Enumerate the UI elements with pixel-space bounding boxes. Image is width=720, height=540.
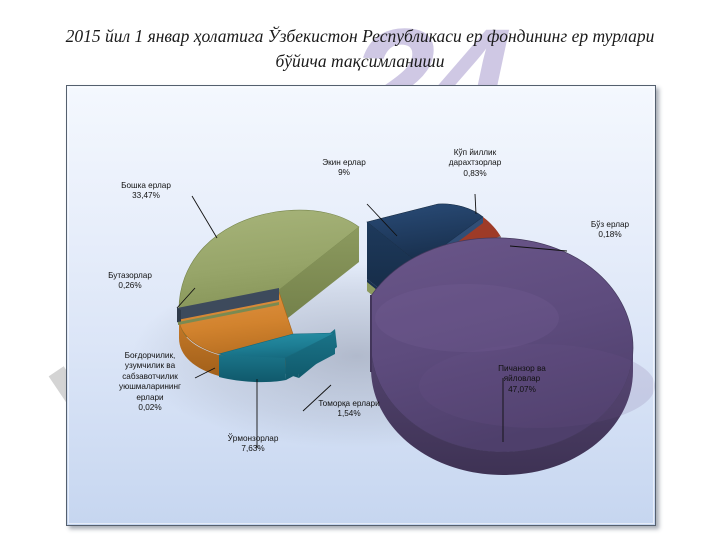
page-title: 2015 йил 1 январ ҳолатига Ўзбекистон Рес…: [42, 24, 678, 74]
slice-label-perennial-plantings: Кўп йиллик дарахтзорлар 0,83%: [423, 148, 527, 179]
slide-canvas: HUDUD 24 2015 йил 1 январ ҳолатига Ўзбек…: [0, 0, 720, 540]
chart-frame: Бошка ерлар 33,47% Экин ерлар 9% Кўп йил…: [66, 85, 656, 526]
slice-label-arable: Экин ерлар 9%: [299, 158, 389, 179]
slice-label-horticulture-associations: Боғдорчилик, узумчилик ва сабзавотчилик …: [95, 351, 205, 413]
slice-label-pastures: Пичанзор ва яйловлар 47,07%: [467, 364, 577, 395]
slice-label-forests: Ўрмонзорлар 7,63%: [201, 434, 305, 455]
slice-label-household-plots: Томорқа ерлари 1,54%: [293, 399, 405, 420]
pie-geometry: [67, 86, 655, 525]
slice-label-shrublands: Бутазорлар 0,26%: [75, 271, 185, 292]
slice-label-virgin-lands: Бўз ерлар 0,18%: [567, 220, 653, 241]
pie-chart-3d: Бошка ерлар 33,47% Экин ерлар 9% Кўп йил…: [67, 86, 655, 525]
slice-label-other-lands: Бошка ерлар 33,47%: [85, 181, 207, 202]
